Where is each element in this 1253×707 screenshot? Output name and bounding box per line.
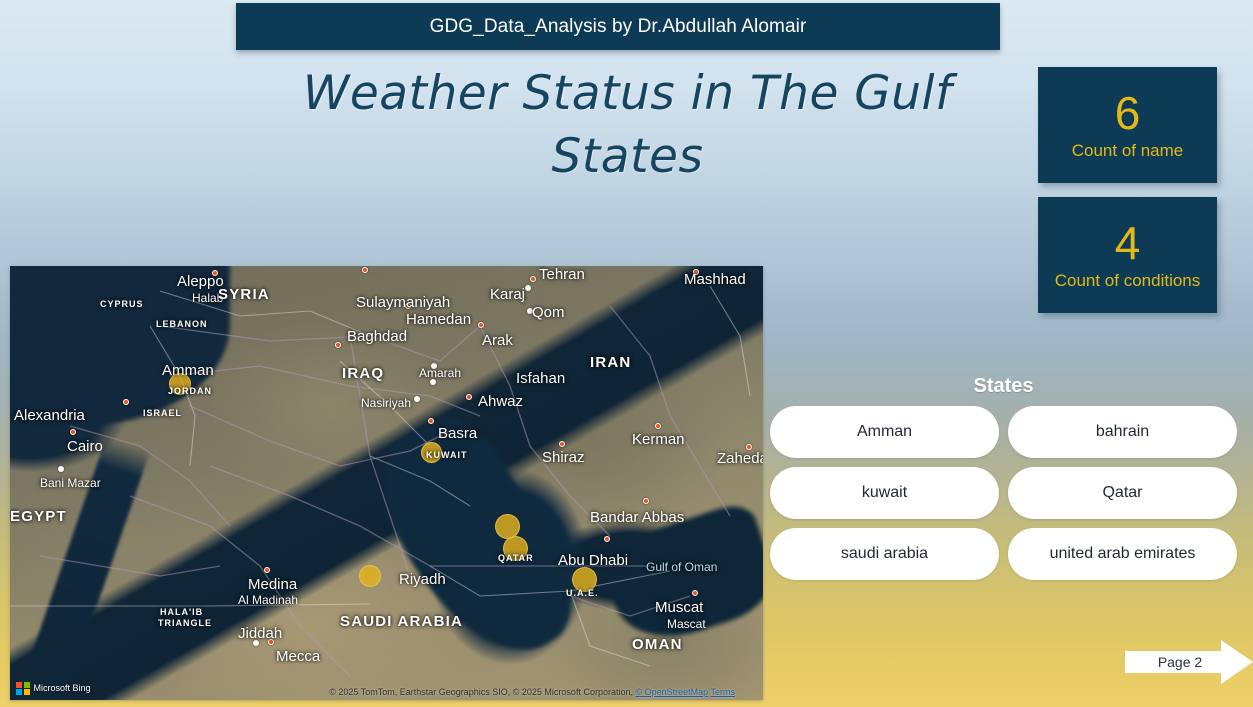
bubble-riyadh[interactable] [359,565,381,587]
bing-label: Microsoft Bing [34,683,91,693]
map-dot [212,270,218,276]
microsoft-logo-icon [16,682,30,696]
slicer-chip-kuwait[interactable]: kuwait [770,467,999,519]
bubble-amman[interactable] [169,373,191,395]
map-roads-and-borders [10,266,763,700]
slicer-chip-bahrain[interactable]: bahrain [1008,406,1237,458]
map-attribution-text: © 2025 TomTom, Earthstar Geographics SIO… [329,687,633,697]
map-dot [525,285,531,291]
map-dot [692,590,698,596]
map-dot [431,363,437,369]
bubble-kuwait[interactable] [421,442,442,463]
kpi-label: Count of conditions [1055,272,1201,291]
slicer-chip-label: Amman [857,423,912,441]
map-dot [559,441,565,447]
map-dot [123,399,129,405]
slicer-chip-qatar[interactable]: Qatar [1008,467,1237,519]
map-dot [655,423,661,429]
states-slicer: States Amman bahrain kuwait Qatar saudi … [770,375,1237,587]
map-dot [428,418,434,424]
slicer-chip-united-arab-emirates[interactable]: united arab emirates [1008,528,1237,580]
kpi-card-count-of-conditions[interactable]: 4 Count of conditions [1038,197,1217,313]
header-title: GDG_Data_Analysis by Dr.Abdullah Alomair [430,16,807,38]
kpi-label: Count of name [1072,142,1184,161]
map-dot [430,379,436,385]
map-dot [466,394,472,400]
map-dot [478,322,484,328]
report-canvas: GDG_Data_Analysis by Dr.Abdullah Alomair… [0,0,1253,707]
bubble-qatar[interactable] [503,536,528,561]
map-dot [414,396,420,402]
slicer-chip-grid: Amman bahrain kuwait Qatar saudi arabia … [770,406,1237,580]
page-nav-button[interactable]: Page 2 [1125,640,1253,684]
map-dot [405,303,411,309]
header-banner: GDG_Data_Analysis by Dr.Abdullah Alomair [236,3,1000,50]
slicer-chip-label: bahrain [1096,423,1149,441]
slicer-chip-label: saudi arabia [841,545,928,563]
map-dot [527,308,533,314]
slicer-chip-label: kuwait [862,484,907,502]
bubble-uae[interactable] [572,567,597,592]
map-dot [253,640,259,646]
map-dot [264,567,270,573]
slicer-chip-amman[interactable]: Amman [770,406,999,458]
terms-link[interactable]: Terms [711,687,736,697]
map-dot [643,498,649,504]
microsoft-bing-logo: Microsoft Bing [16,682,91,696]
map-dot [530,276,536,282]
map-dot [604,536,610,542]
slicer-chip-label: Qatar [1102,484,1142,502]
page-title: Weather Status in The Gulf States [250,62,1005,189]
kpi-card-count-of-name[interactable]: 6 Count of name [1038,67,1217,183]
map-dot [58,466,64,472]
map-dot [268,639,274,645]
bing-map-visual[interactable]: AleppoHalabTehranMashhadKarajSulaymaniya… [10,266,763,700]
map-dot [362,267,368,273]
map-dot [746,444,752,450]
kpi-value: 4 [1115,220,1141,266]
slicer-chip-label: united arab emirates [1050,545,1196,563]
map-dot [70,429,76,435]
right-arrow-icon [1125,640,1253,684]
slicer-chip-saudi-arabia[interactable]: saudi arabia [770,528,999,580]
slicer-title: States [770,375,1237,398]
map-dot [693,269,699,275]
map-attribution: © 2025 TomTom, Earthstar Geographics SIO… [329,687,735,697]
openstreetmap-link[interactable]: © OpenStreetMap [635,687,708,697]
map-dot [335,342,341,348]
kpi-value: 6 [1115,90,1141,136]
